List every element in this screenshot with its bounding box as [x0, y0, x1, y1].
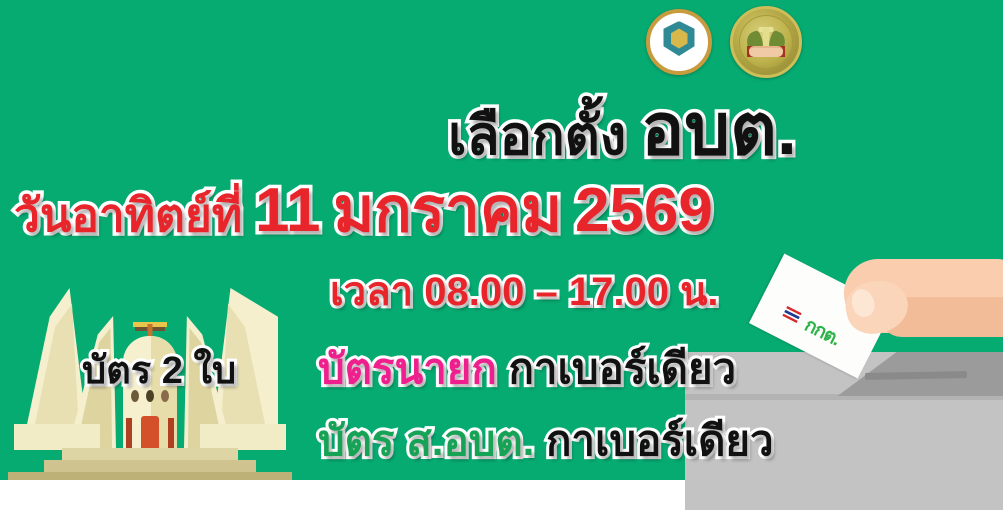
- ballot-row-mayor-name: บัตรนายก: [318, 345, 497, 392]
- election-commission-emblem: [646, 9, 712, 75]
- time-dash: –: [535, 270, 557, 314]
- ballot-row-council: บัตร ส.อบต. กาเบอร์เดียว: [318, 420, 774, 462]
- monument-base-tier-2: [44, 460, 256, 472]
- date-month: มกราคม: [333, 176, 562, 245]
- time-start: 08.00: [424, 270, 524, 314]
- monument-base-tier-3: [8, 472, 292, 480]
- time-unit: น.: [680, 270, 718, 314]
- date-year: 2569: [575, 176, 713, 245]
- election-time-line: เวลา 08.00 – 17.00 น.: [330, 272, 719, 312]
- hand-casting-ballot-illustration: กกต.: [760, 255, 1003, 385]
- election-announcement-banner: เลือกตั้ง อบต. วันอาทิตย์ที่ 11 มกราคม 2…: [0, 0, 1003, 510]
- emblem-crest-icon: [664, 21, 695, 56]
- headline-prefix: เลือกตั้ง: [448, 106, 626, 166]
- ballot-count-label: บัตร 2 ใบ: [82, 352, 236, 390]
- election-date-line: วันอาทิตย์ที่ 11 มกราคม 2569: [14, 180, 713, 242]
- date-weekday-label: วันอาทิตย์ที่: [14, 189, 242, 241]
- emblem-disc: [739, 15, 793, 69]
- bottom-white-strip: [0, 480, 685, 510]
- monument-tower-panel-left: [126, 418, 132, 450]
- emblem-handshake-icon: [749, 46, 783, 57]
- headline-subject: อบต.: [641, 90, 797, 170]
- monument-base-tier-1: [62, 448, 238, 460]
- emblem-crest-inner-icon: [671, 29, 688, 49]
- date-day: 11: [255, 176, 321, 245]
- page-title: เลือกตั้ง อบต.: [448, 94, 797, 166]
- ballot-row-council-instruction: กาเบอร์เดียว: [546, 417, 774, 464]
- ballot-row-council-name: บัตร ส.อบต.: [318, 417, 534, 464]
- ballot-row-mayor-instruction: กาเบอร์เดียว: [509, 345, 737, 392]
- monument-tower-door: [141, 416, 159, 450]
- local-administration-emblem: [730, 6, 802, 78]
- ballot-row-mayor: บัตรนายก กาเบอร์เดียว: [318, 348, 736, 390]
- time-end: 17.00: [569, 270, 669, 314]
- monument-pedestal-right: [200, 424, 286, 450]
- monument-tower-panel-right: [168, 418, 174, 450]
- monument-pedestal-left: [14, 424, 100, 450]
- time-label: เวลา: [330, 270, 413, 314]
